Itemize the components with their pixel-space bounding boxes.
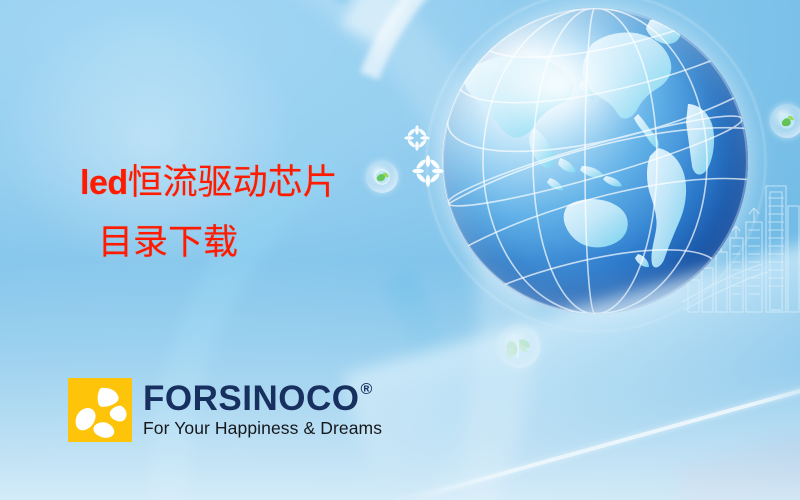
four-petal-pinwheel-icon: [68, 378, 132, 442]
pinwheel-petals: [68, 378, 132, 442]
logo-tagline: For Your Happiness & Dreams: [143, 419, 382, 438]
flower-asterisk-icon: [404, 125, 430, 151]
registered-trademark-icon: ®: [360, 382, 372, 398]
headline-line-1-cjk: 恒流驱动芯片: [128, 163, 338, 202]
logo: FORSINOCO ® For Your Happiness & Dreams: [68, 378, 382, 442]
headline: led恒流驱动芯片 目录下载: [80, 160, 440, 265]
headline-line-1: led恒流驱动芯片: [80, 160, 440, 206]
logo-wordmark-text: FORSINOCO: [143, 381, 359, 416]
banner-image: led恒流驱动芯片 目录下载 FORSINOCO ® For Your Happ…: [0, 0, 800, 500]
bubble-globe-inner: [770, 104, 800, 138]
logo-wordmark: FORSINOCO ®: [143, 381, 382, 416]
logo-text: FORSINOCO ® For Your Happiness & Dreams: [143, 381, 382, 438]
headline-line-2: 目录下载: [80, 220, 440, 266]
bubble-with-globe-icon: [770, 104, 800, 138]
headline-line-1-latin: led: [80, 164, 128, 202]
